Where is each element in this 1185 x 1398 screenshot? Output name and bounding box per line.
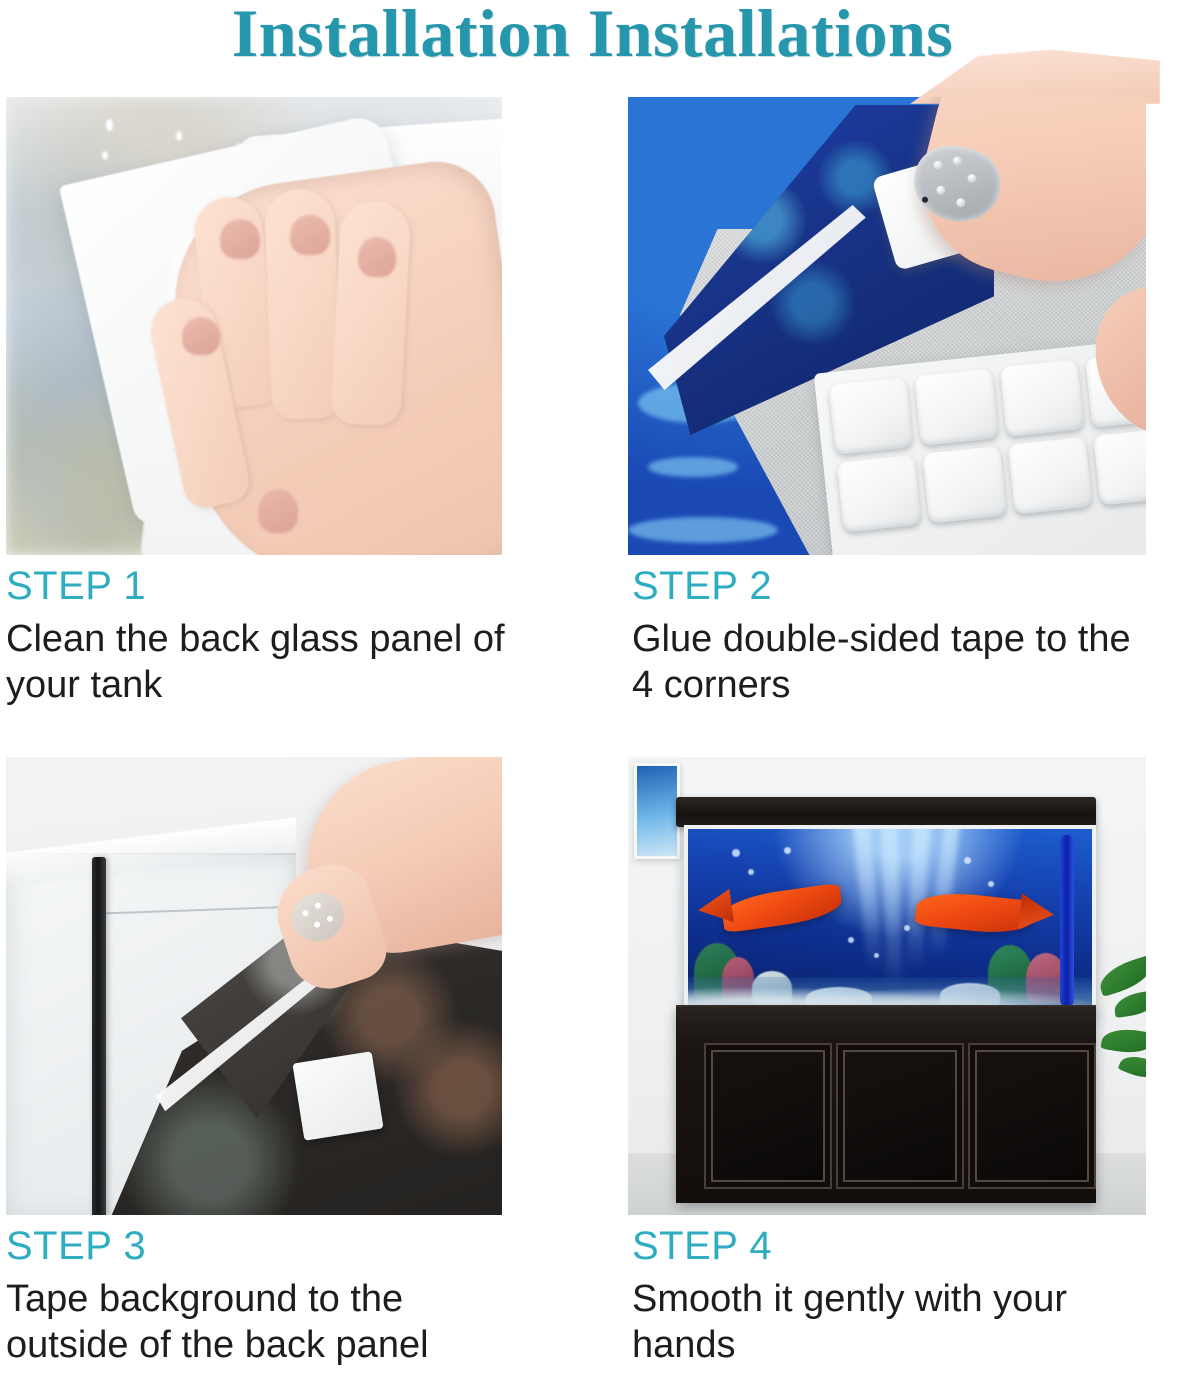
step-4-label: STEP 4: [632, 1225, 1185, 1267]
step-2-caption: STEP 2 Glue double-sided tape to the 4 c…: [632, 565, 1185, 708]
step-4-description: Smooth it gently with your hands: [632, 1277, 1162, 1368]
nail-thumb: [258, 489, 298, 533]
step-1-image: [6, 97, 502, 555]
page-title: Installation Installations: [0, 0, 1185, 73]
step-3-image: [6, 757, 502, 1215]
step-1-caption: STEP 1 Clean the back glass panel of you…: [6, 565, 566, 708]
wall-picture-frame: [634, 763, 680, 859]
installation-guide-page: Installation Installations: [0, 0, 1185, 1398]
step-4-photo-cell: [628, 757, 1146, 1215]
nail-middle: [290, 215, 330, 255]
aquarium-hood: [676, 797, 1096, 827]
aquarium-tank: [684, 825, 1096, 1015]
step-2-image: [628, 97, 1146, 555]
step-3-photo-cell: [6, 757, 502, 1215]
cabinet-door-center[interactable]: [836, 1043, 964, 1189]
finger-ring: [330, 199, 412, 426]
step-4-caption: STEP 4 Smooth it gently with your hands: [632, 1225, 1185, 1368]
step-3-description: Tape background to the outside of the ba…: [6, 1277, 536, 1368]
blue-filter-tube: [1060, 835, 1074, 1007]
step-1-label: STEP 1: [6, 565, 566, 607]
step-2-label: STEP 2: [632, 565, 1185, 607]
white-double-sided-tape-square: [292, 1051, 383, 1141]
adhesive-pads-grid: [828, 350, 1146, 555]
cabinet-door-left[interactable]: [704, 1043, 832, 1189]
step-1-description: Clean the back glass panel of your tank: [6, 617, 536, 708]
tank-black-corner-trim: [92, 857, 106, 1215]
step-3-caption: STEP 3 Tape background to the outside of…: [6, 1225, 566, 1368]
nail-pinky: [182, 317, 220, 355]
cabinet-door-right[interactable]: [968, 1043, 1096, 1189]
nail-index: [220, 219, 260, 259]
step-4-image: [628, 757, 1146, 1215]
nail-ring: [358, 237, 396, 277]
step-3-label: STEP 3: [6, 1225, 566, 1267]
step-2-photo-cell: [628, 97, 1146, 555]
step-2-description: Glue double-sided tape to the 4 corners: [632, 617, 1162, 708]
step-1-photo-cell: [6, 97, 502, 555]
